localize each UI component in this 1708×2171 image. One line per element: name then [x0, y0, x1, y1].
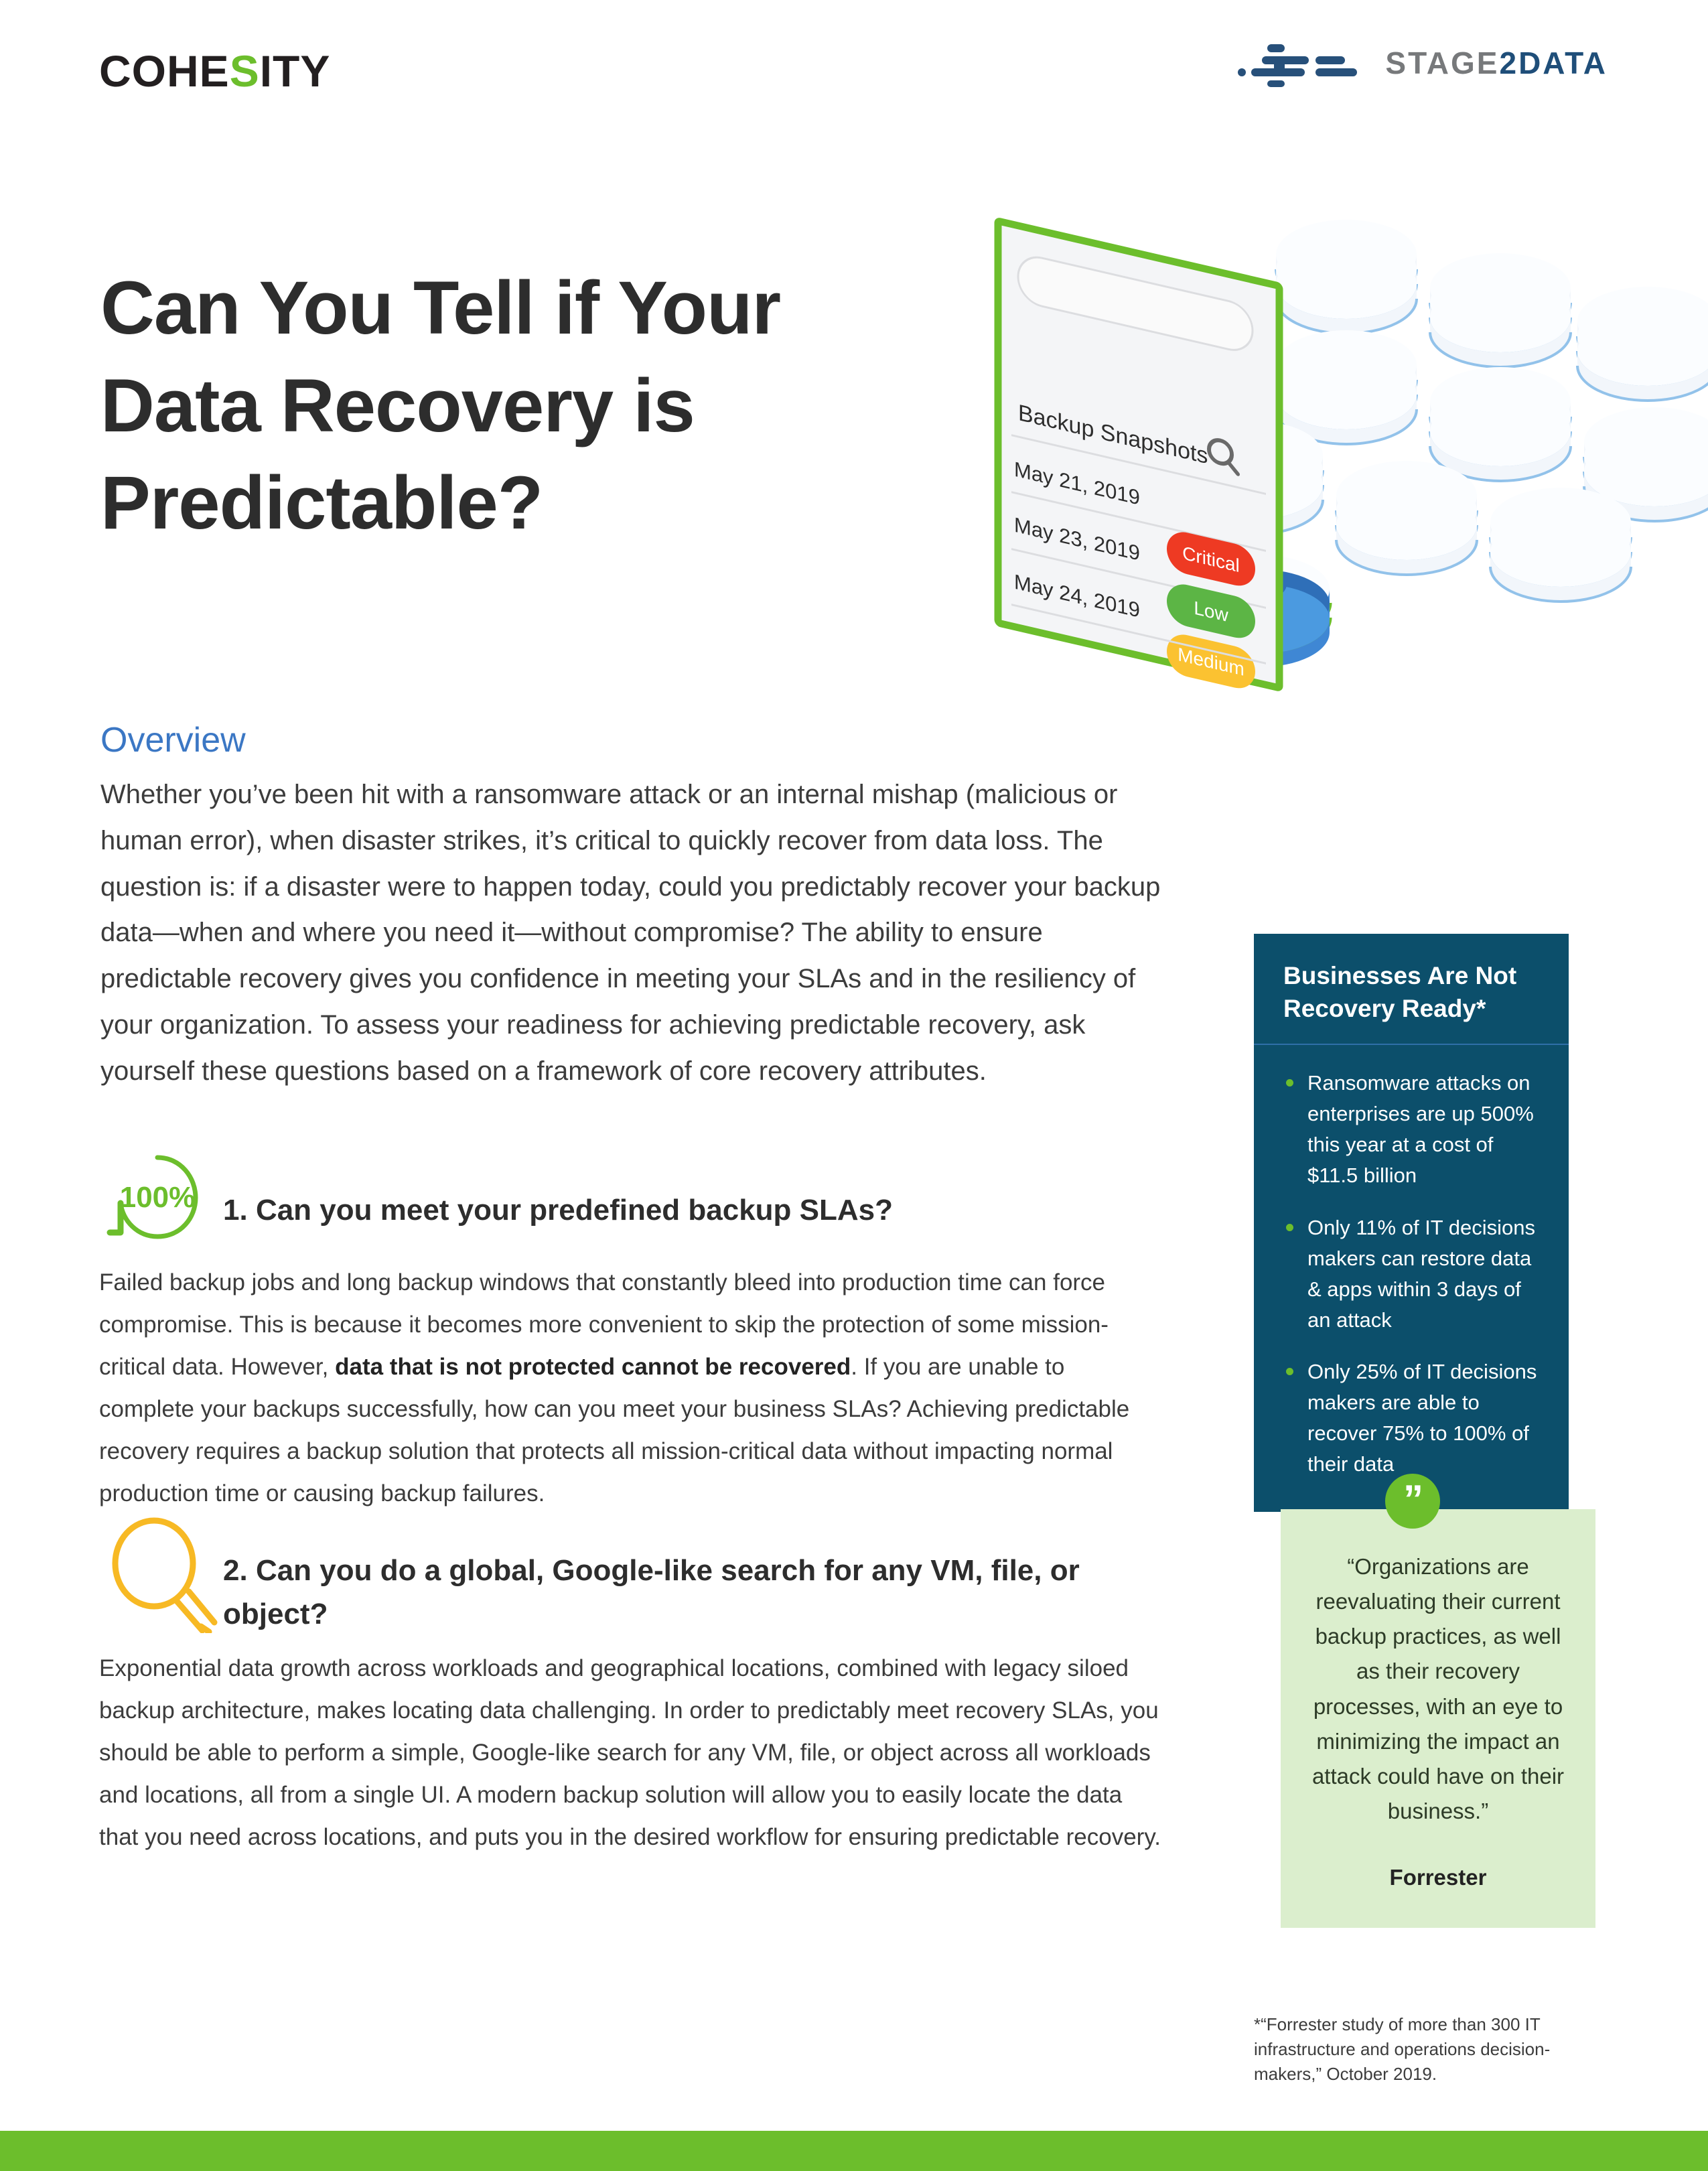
footer-bar — [0, 2131, 1708, 2171]
stage2data-logo: STAGE2DATA — [1236, 39, 1608, 87]
stat-box-title: Businesses Are Not Recovery Ready* — [1254, 934, 1569, 1045]
list-item: Only 25% of IT decisions makers are able… — [1283, 1356, 1546, 1480]
cohesity-logo-part2: ITY — [260, 46, 331, 96]
backup-snapshots-panel: Backup Snapshots May 21, 2019 May 23, 20… — [998, 221, 1279, 698]
stage2data-mark-icon — [1236, 39, 1370, 87]
cohesity-logo: COHESITY — [99, 46, 330, 96]
section-2-heading: 2. Can you do a global, Google-like sear… — [223, 1549, 1107, 1636]
overview-heading: Overview — [100, 720, 246, 760]
hundred-percent-label: 100% — [120, 1181, 196, 1214]
section-1-heading: 1. Can you meet your predefined backup S… — [223, 1194, 1094, 1227]
cohesity-logo-part1: COHE — [99, 46, 230, 96]
page-header: COHESITY STAGE2DATA — [0, 0, 1708, 134]
section-2-number: 2. — [223, 1554, 248, 1587]
stage2data-2data-text: 2DATA — [1499, 46, 1608, 80]
quote-badge-icon: ” — [1385, 1474, 1440, 1529]
overview-body-text: Whether you’ve been hit with a ransomwar… — [100, 772, 1165, 1095]
hero-illustration: Backup Snapshots May 21, 2019 May 23, 20… — [971, 174, 1708, 723]
list-item: Only 11% of IT decisions makers can rest… — [1283, 1212, 1546, 1336]
section-1-body-emphasis: data that is not protected cannot be rec… — [335, 1354, 851, 1380]
quote-mark-glyph: ” — [1403, 1480, 1422, 1520]
stat-list: Ransomware attacks on enterprises are up… — [1254, 1045, 1569, 1512]
list-item: Ransomware attacks on enterprises are up… — [1283, 1068, 1546, 1191]
page-title: Can You Tell if Your Data Recovery is Pr… — [100, 259, 938, 552]
section-1-body-text: Failed backup jobs and long backup windo… — [99, 1261, 1164, 1515]
magnifier-icon — [100, 1513, 221, 1633]
section-2-heading-text: Can you do a global, Google-like search … — [223, 1554, 1080, 1630]
quote-text: “Organizations are reevaluating their cu… — [1311, 1549, 1565, 1829]
stage2data-wordmark: STAGE2DATA — [1385, 45, 1608, 81]
cohesity-logo-highlight: S — [230, 46, 260, 96]
stat-callout-box: Businesses Are Not Recovery Ready* Ranso… — [1254, 934, 1569, 1512]
section-2-body-text: Exponential data growth across workloads… — [99, 1647, 1164, 1858]
quote-callout-box: “Organizations are reevaluating their cu… — [1281, 1509, 1595, 1928]
hundred-percent-icon: 100% — [100, 1145, 214, 1246]
footnote-text: *“Forrester study of more than 300 IT in… — [1254, 2012, 1602, 2087]
section-1-heading-text: Can you meet your predefined backup SLAs… — [256, 1194, 893, 1227]
quote-source: Forrester — [1311, 1865, 1565, 1890]
section-1-number: 1. — [223, 1194, 248, 1227]
stage2data-stage-text: STAGE — [1385, 46, 1499, 80]
